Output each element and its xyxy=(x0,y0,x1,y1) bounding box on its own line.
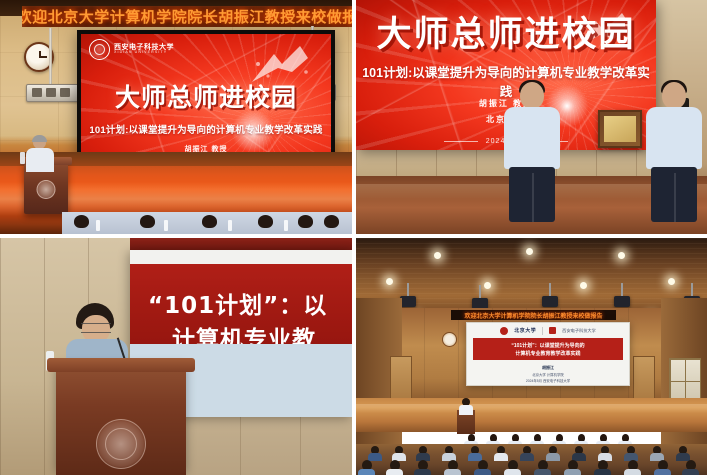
ceiling-light-icon xyxy=(580,282,587,289)
slide-title: 大师总师进校园 xyxy=(81,78,331,114)
projector-icon xyxy=(614,296,630,307)
collage-panel-4-auditorium-wide: 欢迎北京大学计算机学院院长胡振江教授来校做报告 北京大学 西安电子科技大学 “1… xyxy=(356,238,707,475)
led-banner: 欢迎北京大学计算机学院院长胡振江教授来校做报告 xyxy=(22,6,352,27)
screen-presenter: 胡振江 xyxy=(467,365,629,371)
lectern-emblem-icon xyxy=(96,419,146,469)
university-seal-icon xyxy=(89,39,110,60)
ceiling-pole xyxy=(49,28,52,86)
wall-clock-icon xyxy=(442,332,457,347)
presenter-figure xyxy=(26,136,54,170)
ceiling-light-icon xyxy=(484,282,491,289)
collage-panel-1-stage-wide: 欢迎北京大学计算机学院院长胡振江教授来校做报告 xyxy=(0,0,352,234)
commemorative-plaque xyxy=(598,110,642,148)
university-name-en: XIDIAN UNIVERSITY xyxy=(114,51,174,55)
pku-seal-icon xyxy=(500,327,508,335)
ceiling-light-icon xyxy=(526,248,533,255)
led-banner-text: 欢迎北京大学计算机学院院长胡振江教授来校做报告 xyxy=(464,311,602,320)
ceiling-light-icon xyxy=(386,278,393,285)
slide-title: 大师总师进校园 xyxy=(356,6,656,57)
photo-collage: 欢迎北京大学计算机学院院长胡振江教授来校做报告 xyxy=(0,0,707,475)
projection-screen: 北京大学 西安电子科技大学 “101计划”：以课堂提升为导向的 计算机专业教育教… xyxy=(466,322,630,386)
presenter-figure xyxy=(459,398,473,414)
person-left-host xyxy=(504,82,560,222)
slide-subtitle: 101计划:以课堂提升为导向的计算机专业教学改革实践 xyxy=(81,122,331,136)
person-right-professor xyxy=(646,82,702,222)
audience-row xyxy=(356,460,707,475)
screen-logo-cn2: 西安电子科技大学 xyxy=(562,328,596,334)
xidian-seal-icon xyxy=(549,327,556,334)
ceiling-light-icon xyxy=(434,252,441,259)
audience-row xyxy=(356,446,707,460)
water-bottle xyxy=(20,152,25,164)
screen-meta-1: 北京大学 计算机学院 xyxy=(467,372,629,377)
led-banner: 欢迎北京大学计算机学院院长胡振江教授来校做报告 xyxy=(451,310,616,320)
projector-icon xyxy=(400,296,416,307)
front-row-audience xyxy=(62,212,352,234)
screen-logo-row: 北京大学 西安电子科技大学 xyxy=(467,325,629,336)
university-logo: 西安电子科技大学 XIDIAN UNIVERSITY xyxy=(89,39,174,60)
projector-icon xyxy=(542,296,558,307)
screen-title-band: “101计划”：以课堂提升为导向的 计算机专业教育教学改革实践 xyxy=(473,338,623,360)
lectern-emblem-icon xyxy=(37,180,56,199)
screen-meta-2: 2024年5月 西安电子科技大学 xyxy=(467,378,629,383)
audience-seating-area xyxy=(356,444,707,475)
collage-panel-2-award: 大师总师进校园 101计划:以课堂提升为导向的计算机专业教学改革实践 胡振江 教… xyxy=(356,0,707,234)
screen-title-line1: “101计划”：以课堂提升为导向的 xyxy=(511,342,584,349)
led-banner-text: 欢迎北京大学计算机学院院长胡振江教授来校做报告 xyxy=(22,6,352,27)
screen-title-line2: 计算机专业教育教学改革实践 xyxy=(515,350,580,357)
ceiling-light-icon xyxy=(668,278,675,285)
collage-panel-3-speaker-closeup: “101计划”：以 计算机专业教 北京 2 xyxy=(0,238,352,475)
slide-title-line1: “101计划”：以 xyxy=(148,286,327,320)
lectern xyxy=(56,367,186,475)
ceiling-light-icon xyxy=(618,252,625,259)
logo-divider xyxy=(542,327,543,335)
screen-logo-cn: 北京大学 xyxy=(514,327,536,334)
eyeglasses-icon xyxy=(81,323,111,333)
stage-platform xyxy=(356,398,707,432)
slide-title-band: “101计划”：以 计算机专业教 xyxy=(130,264,352,344)
